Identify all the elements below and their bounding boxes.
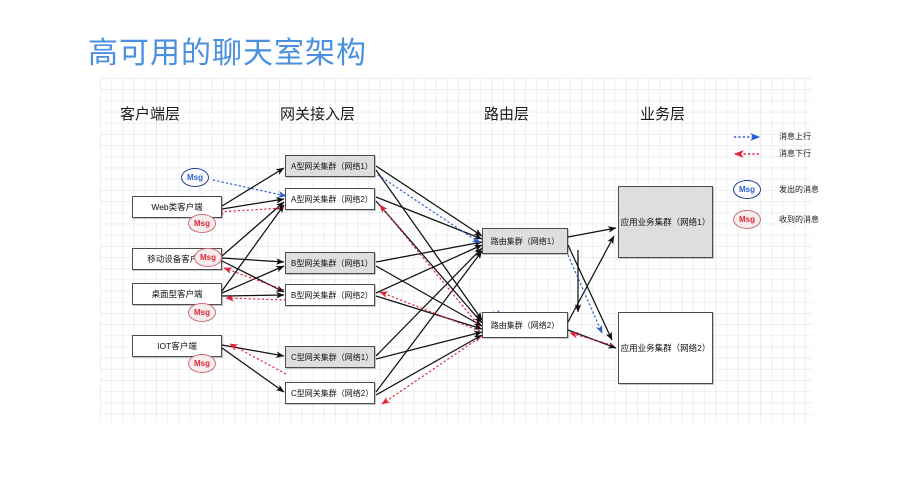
client-node-iot[interactable]: IOT客户端 [132, 335, 222, 357]
msg-badge-sent-web: Msg [181, 168, 209, 187]
uplink-arrow-icon [733, 132, 773, 142]
gateway-node-c2[interactable]: C型网关集群（网络2） [285, 382, 375, 404]
gateway-node-a2-label: A型网关集群（网络2） [291, 194, 373, 205]
legend-badge-received-wrap: Msg [733, 210, 773, 229]
client-node-desktop[interactable]: 桌面型客户端 [132, 283, 222, 305]
client-node-iot-label: IOT客户端 [157, 340, 197, 352]
msg-badge-sent-web-label: Msg [187, 173, 203, 182]
gateway-node-c2-label: C型网关集群（网络2） [291, 388, 373, 399]
page-title: 高可用的聊天室架构 [88, 28, 367, 72]
gateway-node-c1-label: C型网关集群（网络1） [291, 352, 373, 363]
msg-sent-icon: Msg [733, 180, 761, 199]
business-node-net2[interactable]: 应用业务集群（网络2） [618, 312, 713, 384]
msg-badge-received-web-label: Msg [194, 219, 210, 228]
msg-badge-received-mobile: Msg [194, 248, 222, 267]
legend-row-received-message: Msg 收到的消息 [733, 204, 898, 234]
client-node-web-label: Web类客户端 [151, 201, 202, 213]
gateway-node-c1[interactable]: C型网关集群（网络1） [285, 346, 375, 368]
slide-canvas: 高可用的聊天室架构 [0, 0, 912, 502]
legend-row-downlink: 消息下行 [733, 145, 898, 162]
business-node-net1[interactable]: 应用业务集群（网络1） [618, 186, 713, 258]
gateway-node-b2[interactable]: B型网关集群（网络2） [285, 284, 375, 306]
legend-badge-sent-wrap: Msg [733, 180, 773, 199]
layer-header-route: 路由层 [484, 103, 529, 124]
gateway-node-b1[interactable]: B型网关集群（网络1） [285, 252, 375, 274]
legend-label-sent-message: 发出的消息 [779, 184, 819, 195]
legend-row-uplink: 消息上行 [733, 128, 898, 145]
route-node-net1-label: 路由集群（网络1） [491, 236, 559, 247]
layer-header-gateway: 网关接入层 [280, 103, 355, 124]
route-node-net2[interactable]: 路由集群（网络2） [482, 312, 568, 338]
msg-badge-received-iot-label: Msg [194, 359, 210, 368]
legend-badge-received-text: Msg [739, 215, 755, 224]
route-node-net1[interactable]: 路由集群（网络1） [482, 228, 568, 254]
downlink-arrow-icon [733, 149, 773, 159]
layer-header-client: 客户端层 [120, 103, 180, 124]
legend-label-downlink: 消息下行 [779, 148, 811, 159]
msg-badge-received-desktop: Msg [188, 303, 216, 322]
msg-badge-received-iot: Msg [188, 354, 216, 373]
msg-badge-received-desktop-label: Msg [194, 308, 210, 317]
msg-received-icon: Msg [733, 210, 761, 229]
legend-badge-sent-text: Msg [739, 185, 755, 194]
legend: 消息上行 消息下行 Msg 发出的消 [733, 128, 898, 234]
msg-badge-received-mobile-label: Msg [200, 253, 216, 262]
gateway-node-a2[interactable]: A型网关集群（网络2） [285, 188, 375, 210]
route-node-net2-label: 路由集群（网络2） [491, 320, 559, 331]
layer-header-business: 业务层 [640, 103, 685, 124]
gateway-node-b2-label: B型网关集群（网络2） [291, 290, 373, 301]
business-node-net2-label: 应用业务集群（网络2） [621, 342, 711, 354]
gateway-node-b1-label: B型网关集群（网络1） [291, 258, 373, 269]
client-node-desktop-label: 桌面型客户端 [151, 288, 202, 300]
gateway-node-a1-label: A型网关集群（网络1） [291, 161, 373, 172]
legend-label-uplink: 消息上行 [779, 131, 811, 142]
business-node-net1-label: 应用业务集群（网络1） [621, 216, 711, 228]
legend-label-received-message: 收到的消息 [779, 214, 819, 225]
gateway-node-a1[interactable]: A型网关集群（网络1） [285, 155, 375, 177]
msg-badge-received-web: Msg [188, 214, 216, 233]
legend-row-sent-message: Msg 发出的消息 [733, 174, 898, 204]
